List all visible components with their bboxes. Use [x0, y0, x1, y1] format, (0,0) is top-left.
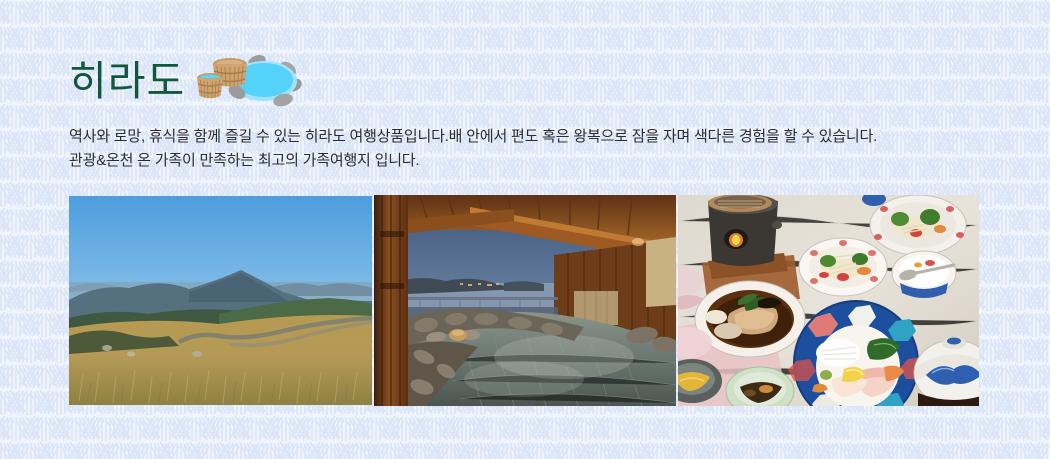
photo-coastal-grassland — [69, 196, 372, 405]
photo-outdoor-onsen — [374, 195, 676, 406]
page-title: 히라도 — [69, 61, 185, 102]
description-line-1: 역사와 로망, 휴식을 함께 즐길 수 있는 히라도 여행상품입니다.배 안에서… — [69, 125, 989, 149]
description-line-2: 관광&온천 온 가족이 만족하는 최고의 가족여행지 입니다. — [69, 149, 989, 173]
onsen-hotspring-icon — [195, 52, 303, 110]
photo-kaiseki-meal — [678, 195, 979, 406]
page-header: 히라도 — [69, 52, 303, 110]
photo-gallery — [69, 195, 981, 406]
product-description: 역사와 로망, 휴식을 함께 즐길 수 있는 히라도 여행상품입니다.배 안에서… — [69, 125, 989, 173]
